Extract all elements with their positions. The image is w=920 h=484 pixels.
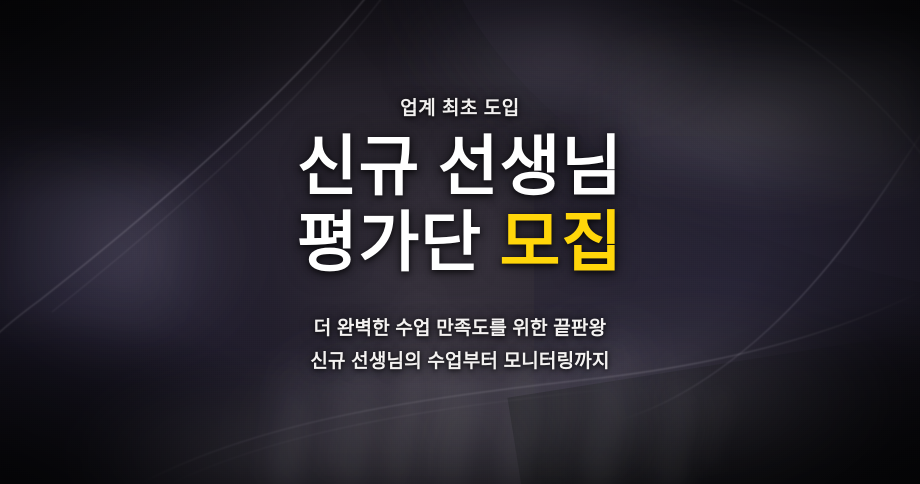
headline-line-1: 신규 선생님 [297,130,623,206]
headline-line-2: 평가단 모집 [297,206,623,282]
promo-banner: 업계 최초 도입 신규 선생님 평가단 모집 더 완벽한 수업 만족도를 위한 … [0,0,920,484]
headline: 신규 선생님 평가단 모집 [297,130,623,282]
eyebrow-text: 업계 최초 도입 [400,93,519,120]
subtitle-line-1: 더 완벽한 수업 만족도를 위한 끝판왕 [310,312,609,345]
subtitle: 더 완벽한 수업 만족도를 위한 끝판왕 신규 선생님의 수업부터 모니터링까지 [310,312,609,378]
headline-line-2-accent: 모집 [500,207,623,280]
subtitle-line-2: 신규 선생님의 수업부터 모니터링까지 [310,345,609,378]
headline-line-2-white: 평가단 [297,207,500,280]
banner-content: 업계 최초 도입 신규 선생님 평가단 모집 더 완벽한 수업 만족도를 위한 … [0,0,920,484]
